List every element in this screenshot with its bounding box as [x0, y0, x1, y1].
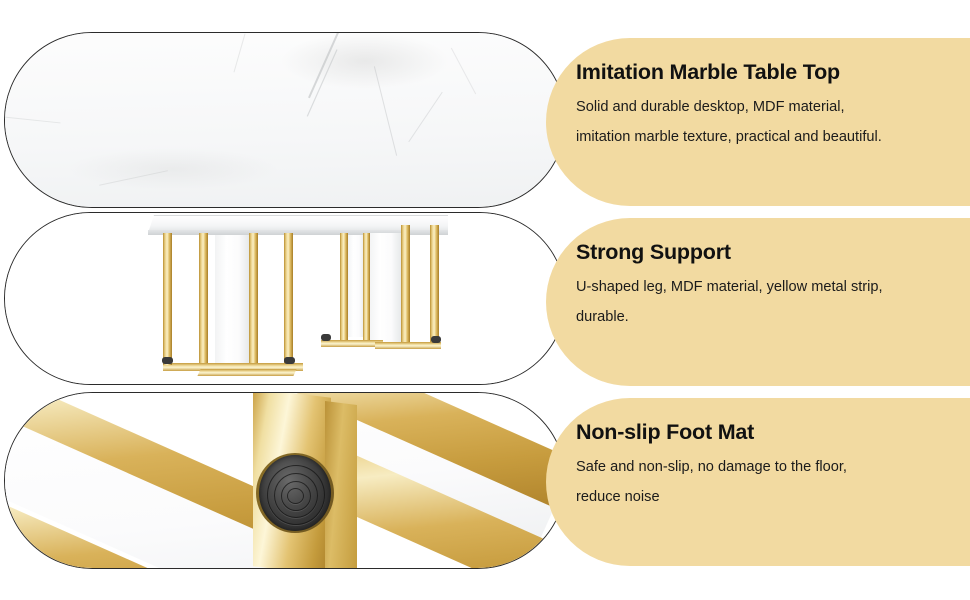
gold-metal-strip: [249, 233, 258, 369]
feature-panel-1: Imitation Marble Table Top Solid and dur…: [546, 38, 970, 206]
mdf-panel: [215, 235, 249, 365]
feature-panel-3: Non-slip Foot Mat Safe and non-slip, no …: [546, 398, 970, 566]
gold-metal-strip: [401, 225, 410, 343]
marble-vein: [234, 34, 246, 73]
gold-foot-rail: [375, 342, 441, 349]
feature-body-line: imitation marble texture, practical and …: [576, 122, 944, 152]
feature-row-3: Non-slip Foot Mat Safe and non-slip, no …: [0, 392, 970, 569]
marble-vein: [308, 32, 340, 98]
gold-u-shaped-legs-photo: [4, 212, 566, 385]
gold-metal-strip: [199, 233, 208, 369]
feature-heading: Non-slip Foot Mat: [576, 420, 944, 446]
marble-vein: [4, 116, 60, 123]
foot-pad-ring: [287, 488, 304, 504]
foot-mat-scene: [4, 392, 566, 569]
marble-photo-clip: [4, 32, 566, 208]
gold-metal-strip: [430, 225, 439, 347]
foot-pad: [284, 357, 295, 364]
feature-body-line: Safe and non-slip, no damage to the floo…: [576, 452, 944, 482]
gold-foot-rail: [321, 340, 383, 347]
gold-metal-strip: [340, 233, 348, 345]
feature-heading: Imitation Marble Table Top: [576, 60, 944, 86]
feature-body-line: U-shaped leg, MDF material, yellow metal…: [576, 272, 944, 302]
gold-metal-strip: [284, 233, 293, 367]
feature-row-2: Strong Support U-shaped leg, MDF materia…: [0, 212, 970, 385]
gold-foot-rail: [197, 369, 296, 376]
feature-body-line: reduce noise: [576, 482, 944, 512]
feature-row-1: Imitation Marble Table Top Solid and dur…: [0, 32, 970, 208]
marble-vein: [99, 170, 168, 186]
non-slip-foot-mat-photo: [4, 392, 566, 569]
foot-pad: [162, 357, 173, 364]
gold-metal-strip: [363, 233, 370, 345]
foot-mat-photo-clip: [4, 392, 566, 569]
foot-pad: [321, 334, 331, 341]
feature-body-line: durable.: [576, 302, 944, 332]
legs-photo-clip: [4, 212, 566, 385]
feature-infographic: Imitation Marble Table Top Solid and dur…: [0, 0, 970, 600]
feature-body-line: Solid and durable desktop, MDF material,: [576, 92, 944, 122]
marble-vein: [374, 66, 398, 156]
marble-vein: [451, 48, 476, 94]
marble-vein: [408, 92, 442, 142]
marble-surface: [4, 32, 566, 208]
gold-metal-strip: [163, 233, 172, 365]
mdf-panel: [348, 235, 364, 337]
table-legs-scene: [4, 212, 566, 385]
feature-heading: Strong Support: [576, 240, 944, 266]
feature-panel-2: Strong Support U-shaped leg, MDF materia…: [546, 218, 970, 386]
foot-pad: [431, 336, 441, 343]
marble-table-top-photo: [4, 32, 566, 208]
mdf-panel: [369, 233, 401, 343]
